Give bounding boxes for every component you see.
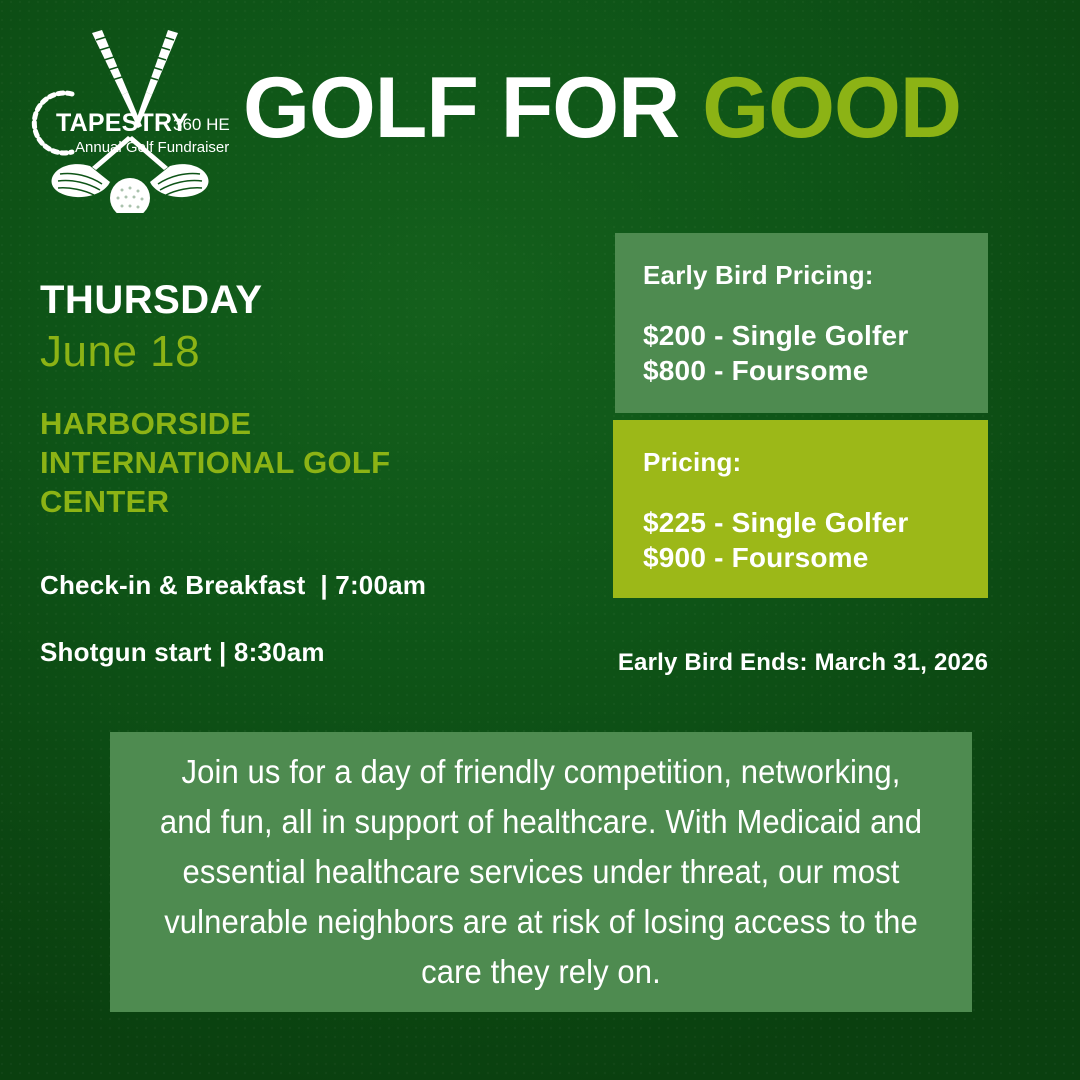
early-bird-foursome-line: $800 - Foursome: [643, 354, 988, 389]
golf-fundraiser-poster: TAPESTRY 360 HEALTH Annual Golf Fundrais…: [0, 0, 1080, 1080]
headline-part-one: GOLF FOR: [243, 60, 679, 156]
early-bird-pricing-box: Early Bird Pricing: $200 - Single Golfer…: [615, 233, 988, 413]
early-bird-prices: $200 - Single Golfer $800 - Foursome: [643, 319, 988, 388]
schedule-item-shotgun: Shotgun start | 8:30am: [40, 637, 580, 668]
page-title: GOLF FOR GOOD: [243, 65, 961, 151]
event-venue: HARBORSIDE INTERNATIONAL GOLF CENTER: [40, 405, 460, 521]
logo-brand-suffix: 360 HEALTH: [173, 115, 230, 134]
schedule-item-checkin: Check-in & Breakfast | 7:00am: [40, 570, 580, 601]
event-schedule: Check-in & Breakfast | 7:00am Shotgun st…: [40, 570, 580, 668]
regular-foursome-line: $900 - Foursome: [643, 541, 988, 576]
event-details-column: THURSDAY June 18 HARBORSIDE INTERNATIONA…: [40, 278, 580, 668]
tapestry-360-health-logo: TAPESTRY 360 HEALTH Annual Golf Fundrais…: [30, 18, 230, 213]
golf-ball-icon: [110, 178, 150, 213]
event-day: THURSDAY: [40, 278, 580, 323]
regular-single-line: $225 - Single Golfer: [643, 506, 988, 541]
logo-brand-text: TAPESTRY: [56, 109, 188, 137]
regular-pricing-prices: $225 - Single Golfer $900 - Foursome: [643, 506, 988, 575]
early-bird-deadline: Early Bird Ends: March 31, 2026: [613, 649, 993, 677]
headline-part-two: GOOD: [702, 60, 961, 156]
regular-pricing-box: Pricing: $225 - Single Golfer $900 - Fou…: [613, 420, 988, 598]
description-box: Join us for a day of friendly competitio…: [110, 732, 972, 1012]
description-text: Join us for a day of friendly competitio…: [157, 747, 926, 998]
early-bird-heading: Early Bird Pricing:: [643, 260, 988, 291]
regular-pricing-heading: Pricing:: [643, 447, 988, 478]
logo-tagline: Annual Golf Fundraiser: [75, 139, 229, 156]
early-bird-single-line: $200 - Single Golfer: [643, 319, 988, 354]
event-date: June 18: [40, 325, 580, 379]
